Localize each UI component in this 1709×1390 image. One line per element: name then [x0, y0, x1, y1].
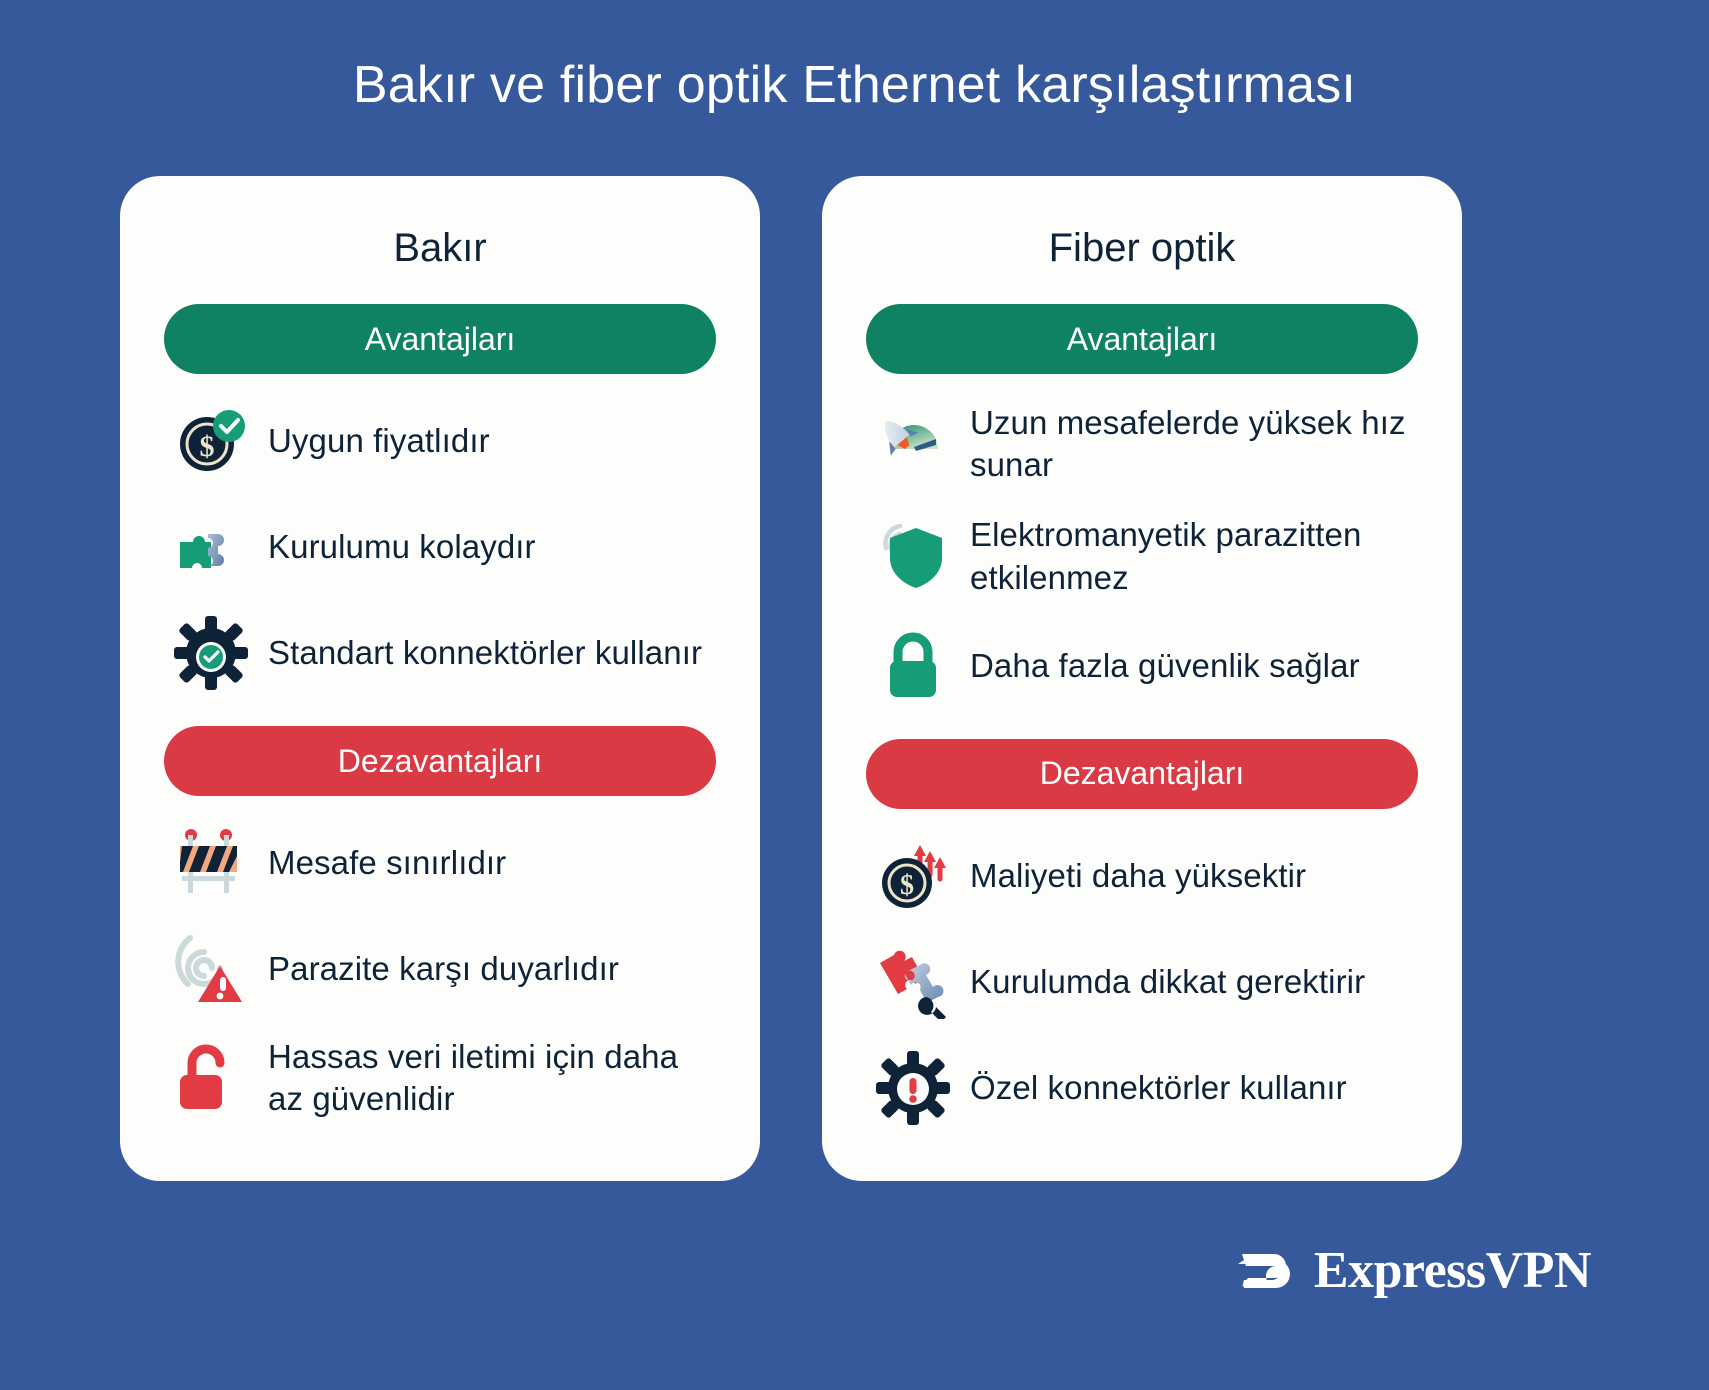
fiber-cons-pill: Dezavantajları [866, 739, 1418, 809]
card-fiber: Fiber optik Avantajları [822, 176, 1462, 1181]
copper-pros-pill: Avantajları [164, 304, 716, 374]
gear-warning-icon [874, 1049, 952, 1127]
list-item-text: Özel konnektörler kullanır [970, 1067, 1347, 1109]
list-item-text: Standart konnektörler kullanır [268, 632, 702, 674]
expressvpn-logo-icon [1232, 1238, 1298, 1304]
shield-signal-icon [874, 518, 952, 596]
coin-dollar-check-icon: $ [172, 402, 250, 480]
unlocked-padlock-icon [172, 1039, 250, 1117]
card-fiber-title: Fiber optik [866, 224, 1418, 272]
list-item: $ Maliyeti daha yüksektir [866, 823, 1418, 929]
card-copper-title: Bakır [164, 224, 716, 272]
puzzle-wrench-icon [874, 943, 952, 1021]
list-item-text: Parazite karşı duyarlıdır [268, 948, 619, 990]
copper-cons-label: Dezavantajları [338, 743, 543, 780]
list-item-text: Elektromanyetik parazitten etkilenmez [970, 514, 1418, 598]
puzzle-pieces-icon [172, 508, 250, 586]
copper-cons-pill: Dezavantajları [164, 726, 716, 796]
list-item-text: Mesafe sınırlıdır [268, 842, 506, 884]
list-item: Uzun mesafelerde yüksek hız sunar [866, 388, 1418, 500]
card-copper: Bakır Avantajları $ Uygun fiyatlıdır [120, 176, 760, 1181]
list-item: Hassas veri iletimi için daha az güvenli… [164, 1022, 716, 1134]
list-item-text: Uygun fiyatlıdır [268, 420, 490, 462]
gear-check-icon [172, 614, 250, 692]
list-item: Elektromanyetik parazitten etkilenmez [866, 500, 1418, 612]
fiber-cons-list: $ Maliyeti daha yüksektir [866, 823, 1418, 1141]
list-item: Mesafe sınırlıdır [164, 810, 716, 916]
page-title: Bakır ve fiber optik Ethernet karşılaştı… [0, 0, 1709, 116]
list-item-text: Kurulumu kolaydır [268, 526, 536, 568]
copper-pros-list: $ Uygun fiyatlıdır [164, 388, 716, 706]
copper-cons-list: Mesafe sınırlıdır [164, 810, 716, 1134]
fiber-pros-pill: Avantajları [866, 304, 1418, 374]
list-item: Standart konnektörler kullanır [164, 600, 716, 706]
comparison-cards: Bakır Avantajları $ Uygun fiyatlıdır [120, 176, 1589, 1181]
road-barrier-icon [172, 824, 250, 902]
list-item: Kurulumda dikkat gerektirir [866, 929, 1418, 1035]
fiber-cons-label: Dezavantajları [1040, 755, 1245, 792]
svg-text:$: $ [200, 430, 215, 463]
list-item-text: Kurulumda dikkat gerektirir [970, 961, 1365, 1003]
brand-logo[interactable]: ExpressVPN [1232, 1238, 1591, 1304]
list-item: Daha fazla güvenlik sağlar [866, 613, 1418, 719]
rocket-speedometer-icon [874, 405, 952, 483]
coin-dollar-up-arrows-icon: $ [874, 837, 952, 915]
list-item-text: Uzun mesafelerde yüksek hız sunar [970, 402, 1418, 486]
list-item: Kurulumu kolaydır [164, 494, 716, 600]
copper-pros-label: Avantajları [365, 321, 516, 358]
list-item: Özel konnektörler kullanır [866, 1035, 1418, 1141]
list-item: Parazite karşı duyarlıdır [164, 916, 716, 1022]
list-item: $ Uygun fiyatlıdır [164, 388, 716, 494]
locked-padlock-icon [874, 627, 952, 705]
list-item-text: Maliyeti daha yüksektir [970, 855, 1306, 897]
spiral-warning-icon [172, 930, 250, 1008]
fiber-pros-list: Uzun mesafelerde yüksek hız sunar Elektr… [866, 388, 1418, 719]
brand-name: ExpressVPN [1314, 1245, 1591, 1297]
list-item-text: Daha fazla güvenlik sağlar [970, 645, 1360, 687]
list-item-text: Hassas veri iletimi için daha az güvenli… [268, 1036, 716, 1120]
fiber-pros-label: Avantajları [1067, 321, 1218, 358]
svg-text:$: $ [900, 870, 914, 901]
